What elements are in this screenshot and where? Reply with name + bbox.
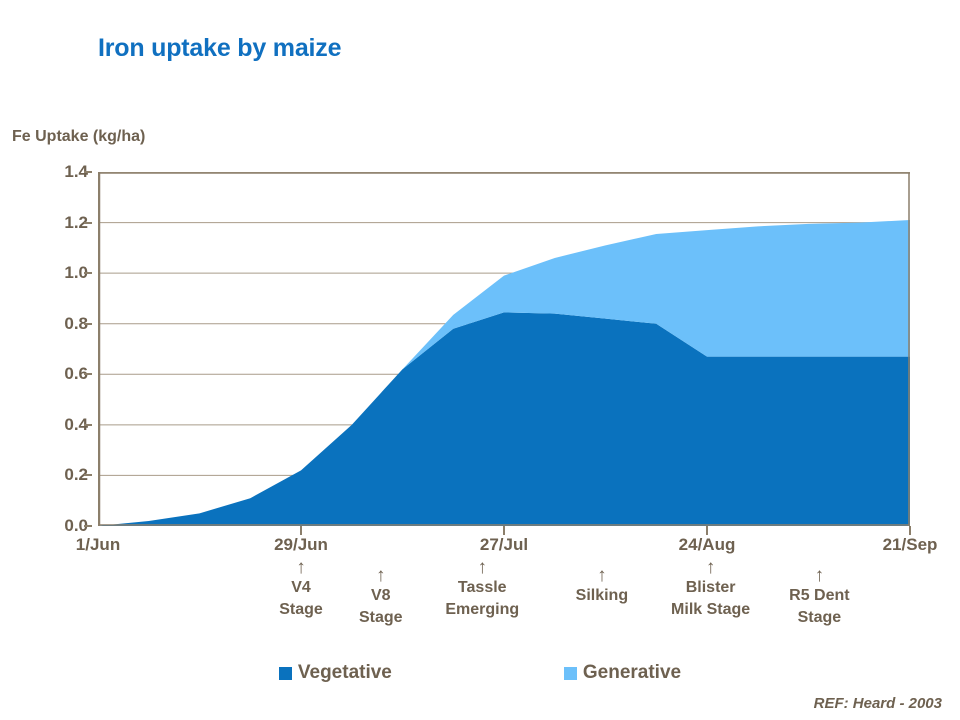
stage-label-line: Milk Stage (671, 599, 750, 621)
y-axis-tick-labels: 1.41.21.00.80.60.40.20.0 (0, 0, 88, 720)
y-tick-label: 0.6 (8, 364, 88, 384)
y-tick-mark (84, 474, 92, 476)
x-tick-mark (909, 526, 911, 535)
x-tick-label: 1/Jun (76, 535, 120, 555)
y-tick-mark (84, 222, 92, 224)
up-arrow-icon: ↑ (576, 566, 628, 585)
legend-swatch-icon (279, 667, 292, 680)
stage-label-line: Stage (359, 607, 403, 629)
legend-label: Vegetative (298, 662, 392, 684)
stage-annotation: ↑R5 DentStage (789, 566, 849, 629)
y-tick-mark (84, 323, 92, 325)
chart-legend: VegetativeGenerative (0, 662, 960, 684)
up-arrow-icon: ↑ (789, 566, 849, 585)
stage-annotation: ↑V8Stage (359, 566, 403, 629)
y-tick-label: 1.0 (8, 263, 88, 283)
y-tick-label: 0.4 (8, 415, 88, 435)
y-tick-label: 0.8 (8, 314, 88, 334)
x-tick-label: 27/Jul (480, 535, 528, 555)
x-tick-mark (706, 526, 708, 535)
y-tick-mark (84, 373, 92, 375)
x-tick-label: 24/Aug (679, 535, 736, 555)
stage-label-line: Emerging (445, 599, 519, 621)
y-tick-mark (84, 272, 92, 274)
chart-page: Iron uptake by maize Fe Uptake (kg/ha) 1… (0, 0, 960, 720)
y-tick-mark (84, 525, 92, 527)
x-tick-mark (300, 526, 302, 535)
stacked-area-chart (98, 172, 910, 526)
stage-annotation: ↑V4Stage (279, 558, 323, 621)
stage-label-line: Blister (671, 577, 750, 599)
stage-annotation: ↑BlisterMilk Stage (671, 558, 750, 621)
page-title: Iron uptake by maize (98, 34, 341, 63)
x-tick-mark (503, 526, 505, 535)
stage-label-line: Silking (576, 585, 628, 607)
up-arrow-icon: ↑ (359, 566, 403, 585)
x-tick-label: 29/Jun (274, 535, 328, 555)
stage-annotation: ↑Silking (576, 566, 628, 607)
stage-label-line: V4 (279, 577, 323, 599)
y-tick-label: 0.2 (8, 465, 88, 485)
stage-label-line: V8 (359, 585, 403, 607)
up-arrow-icon: ↑ (445, 558, 519, 577)
reference-note: REF: Heard - 2003 (814, 695, 942, 712)
stage-label-line: Stage (279, 599, 323, 621)
y-tick-mark (84, 171, 92, 173)
y-tick-label: 1.2 (8, 213, 88, 233)
up-arrow-icon: ↑ (671, 558, 750, 577)
y-tick-label: 0.0 (8, 516, 88, 536)
up-arrow-icon: ↑ (279, 558, 323, 577)
stage-label-line: Tassle (445, 577, 519, 599)
legend-item-vegetative[interactable]: Vegetative (279, 662, 392, 684)
legend-label: Generative (583, 662, 681, 684)
stage-annotation: ↑TassleEmerging (445, 558, 519, 621)
x-tick-label: 21/Sep (883, 535, 938, 555)
legend-swatch-icon (564, 667, 577, 680)
plot-area (98, 172, 910, 526)
y-tick-label: 1.4 (8, 162, 88, 182)
stage-label-line: R5 Dent (789, 585, 849, 607)
legend-item-generative[interactable]: Generative (564, 662, 681, 684)
stage-label-line: Stage (789, 607, 849, 629)
area-series-group (98, 220, 910, 526)
y-tick-mark (84, 424, 92, 426)
